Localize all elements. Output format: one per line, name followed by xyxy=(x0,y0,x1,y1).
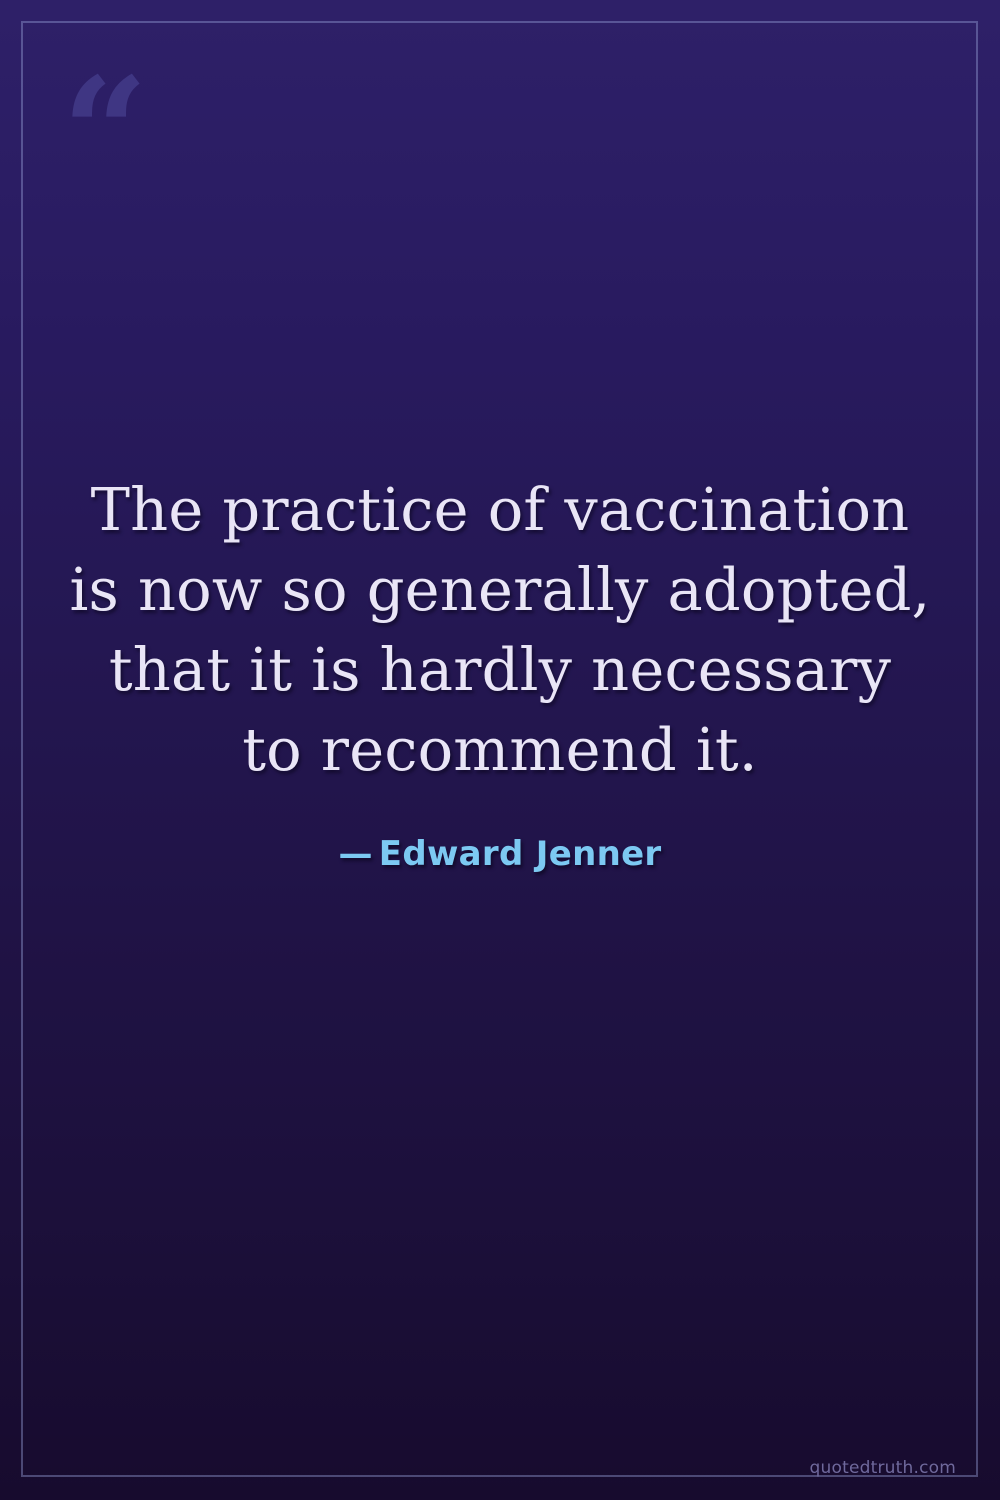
quote-line-1: The practice of vaccination xyxy=(60,470,940,550)
open-quote-icon: “ xyxy=(62,58,146,208)
quote-attribution: —Edward Jenner xyxy=(60,790,940,874)
attribution-dash: — xyxy=(338,834,378,874)
quote-line-2: is now so generally adopted, xyxy=(60,550,940,630)
attribution-author: Edward Jenner xyxy=(379,834,662,874)
quote-text: The practice of vaccination is now so ge… xyxy=(60,470,940,790)
quote-card: “ The practice of vaccination is now so … xyxy=(0,0,1000,1500)
quote-line-4: to recommend it. xyxy=(60,710,940,790)
quote-line-3: that it is hardly necessary xyxy=(60,630,940,710)
site-watermark: quotedtruth.com xyxy=(810,1458,956,1478)
quote-block: The practice of vaccination is now so ge… xyxy=(0,470,1000,874)
